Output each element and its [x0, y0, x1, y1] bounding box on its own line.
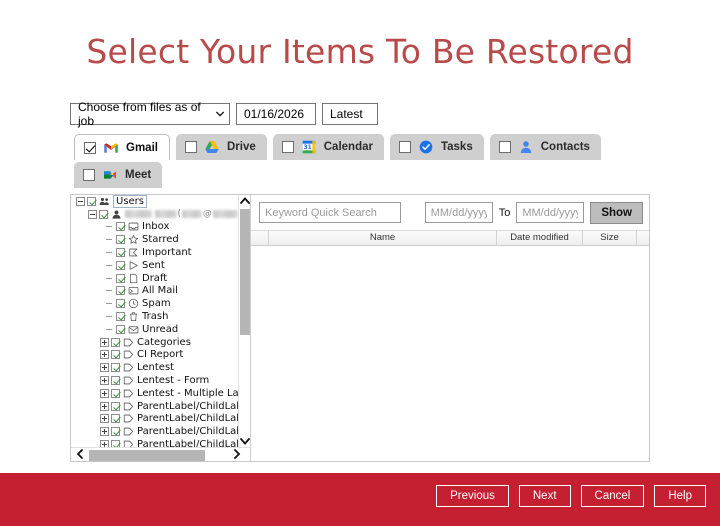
tree-checkbox[interactable] — [111, 440, 120, 447]
tasks-icon — [418, 139, 434, 155]
tree-horizontal-scrollbar[interactable] — [71, 447, 250, 461]
unread-icon — [128, 324, 139, 335]
job-date-value: 01/16/2026 — [244, 107, 304, 121]
tree-node-lentest-multiple-label[interactable]: Lentest - Multiple Label — [71, 387, 238, 400]
label-icon — [123, 337, 134, 348]
tree-node-label: All Mail — [142, 285, 178, 296]
tree-node-starred[interactable]: Starred — [71, 233, 238, 246]
job-selector-row: Choose from files as of job 01/16/2026 L… — [70, 103, 378, 125]
label-icon — [123, 439, 134, 447]
tab-tasks-checkbox[interactable] — [399, 141, 411, 153]
service-tabs-row-2: Meet — [74, 162, 652, 188]
tree-hscroll-thumb[interactable] — [89, 450, 205, 461]
tree-node-inbox[interactable]: Inbox — [71, 221, 238, 234]
expander-icon[interactable] — [100, 427, 109, 436]
file-list-header: Name Date modified Size — [251, 230, 649, 246]
footer-bar: Previous Next Cancel Help — [0, 473, 720, 526]
service-tabs-row-1: Gmail Drive 31 — [74, 134, 652, 160]
paren-open: ( — [178, 209, 182, 219]
tree-node-label: Important — [142, 247, 192, 258]
tree-node-label: Lentest — [137, 362, 174, 373]
tree-checkbox[interactable] — [111, 350, 120, 359]
tree-checkbox[interactable] — [116, 274, 125, 283]
tree-node-label: Unread — [142, 324, 178, 335]
label-icon — [123, 349, 134, 360]
tree-node-label: Inbox — [142, 221, 169, 232]
expander-icon[interactable] — [100, 402, 109, 411]
redacted-text — [155, 210, 177, 218]
redacted-email-user — [182, 210, 202, 218]
selection-panel: Users ( @ I — [70, 194, 650, 462]
mail-icon — [128, 285, 139, 296]
file-list-body[interactable] — [251, 246, 649, 461]
tree-checkbox[interactable] — [111, 389, 120, 398]
user-icon — [111, 209, 122, 220]
tree-scroll-thumb[interactable] — [240, 209, 250, 335]
column-header-size[interactable]: Size — [583, 230, 637, 246]
tab-calendar[interactable]: 31 Calendar — [273, 134, 384, 160]
tree-checkbox[interactable] — [87, 197, 96, 206]
expander-icon[interactable] — [100, 376, 109, 385]
folder-tree: Users ( @ I — [71, 195, 238, 447]
gmail-icon — [103, 140, 119, 156]
tab-contacts-label: Contacts — [541, 141, 590, 153]
job-date-dropdown[interactable]: 01/16/2026 — [236, 103, 316, 125]
footer-buttons: Previous Next Cancel Help — [436, 485, 706, 507]
tree-checkbox[interactable] — [111, 363, 120, 372]
scroll-left-arrow[interactable] — [73, 448, 87, 461]
job-source-value: Choose from files as of job — [78, 100, 206, 128]
tree-connector — [105, 235, 114, 244]
service-tabs: Gmail Drive 31 — [74, 134, 652, 188]
contacts-icon — [518, 139, 534, 155]
expander-icon[interactable] — [100, 350, 109, 359]
date-to-input[interactable] — [516, 202, 584, 223]
job-source-dropdown[interactable]: Choose from files as of job — [70, 103, 230, 125]
tree-node-parentlabel-childlabel4[interactable]: ParentLabel/ChildLabel4 — [71, 438, 238, 447]
tree-checkbox[interactable] — [111, 414, 120, 423]
tree-checkbox[interactable] — [116, 261, 125, 270]
tab-meet[interactable]: Meet — [74, 162, 162, 188]
tab-gmail[interactable]: Gmail — [74, 134, 170, 160]
tree-node-trash[interactable]: Trash — [71, 310, 238, 323]
restore-wizard-page: Select Your Items To Be Restored Choose … — [0, 0, 720, 526]
tree-node-label: ParentLabel/ChildLabel2 — [137, 413, 238, 424]
label-icon — [123, 375, 134, 386]
at-symbol: @ — [203, 209, 212, 219]
column-header-date-modified[interactable]: Date modified — [497, 230, 583, 246]
tree-connector — [105, 248, 114, 257]
expander-icon[interactable] — [100, 389, 109, 398]
tree-node-draft[interactable]: Draft — [71, 272, 238, 285]
tree-node-spam[interactable]: Spam — [71, 297, 238, 310]
tree-checkbox[interactable] — [99, 210, 108, 219]
drive-icon — [204, 139, 220, 155]
tree-node-label: ParentLabel/ChildLabel4 — [137, 439, 238, 447]
tree-checkbox[interactable] — [111, 402, 120, 411]
tree-node-label: Draft — [142, 273, 167, 284]
tree-node-lentest-form[interactable]: Lentest - Form — [71, 374, 238, 387]
tree-node-unread[interactable]: Unread — [71, 323, 238, 336]
important-icon — [128, 247, 139, 258]
tree-node-parentlabel-childlabel1[interactable]: ParentLabel/ChildLabel1 — [71, 400, 238, 413]
search-toolbar: To Show — [251, 195, 649, 230]
label-icon — [123, 413, 134, 424]
tree-checkbox[interactable] — [116, 235, 125, 244]
inbox-icon — [128, 221, 139, 232]
tab-drive-label: Drive — [227, 141, 256, 153]
cancel-button[interactable]: Cancel — [581, 485, 645, 507]
tab-gmail-checkbox[interactable] — [84, 142, 96, 154]
tree-node-all-mail[interactable]: All Mail — [71, 285, 238, 298]
page-title: Select Your Items To Be Restored — [0, 32, 720, 71]
tree-checkbox[interactable] — [116, 286, 125, 295]
tree-node-account-label — [125, 210, 152, 218]
tree-node-parentlabel-childlabel3[interactable]: ParentLabel/ChildLabel3 — [71, 425, 238, 438]
tree-node-sent[interactable]: Sent — [71, 259, 238, 272]
date-range-to-label: To — [499, 207, 511, 219]
chevron-down-icon — [216, 111, 224, 117]
scroll-down-arrow[interactable] — [239, 435, 251, 447]
tree-checkbox[interactable] — [116, 222, 125, 231]
tab-meet-checkbox[interactable] — [83, 169, 95, 181]
spam-icon — [128, 298, 139, 309]
folder-tree-pane[interactable]: Users ( @ I — [71, 195, 251, 461]
file-list-pane: To Show Name Date modified Size — [251, 195, 649, 461]
help-button[interactable]: Help — [654, 485, 706, 507]
column-header-end — [637, 230, 649, 246]
tree-node-label: ParentLabel/ChildLabel1 — [137, 401, 238, 412]
tab-contacts-checkbox[interactable] — [499, 141, 511, 153]
expander-icon[interactable] — [100, 338, 109, 347]
tree-node-label: Spam — [142, 298, 171, 309]
column-header-name[interactable]: Name — [269, 230, 497, 246]
tree-connector — [105, 312, 114, 321]
redacted-email-domain — [213, 210, 238, 218]
label-icon — [123, 362, 134, 373]
job-version-value: Latest — [330, 107, 363, 121]
scroll-right-arrow[interactable] — [230, 448, 244, 461]
sent-icon — [128, 260, 139, 271]
tab-drive[interactable]: Drive — [176, 134, 267, 160]
tree-vertical-scrollbar[interactable] — [238, 195, 250, 447]
trash-icon — [128, 311, 139, 322]
tree-connector — [105, 325, 114, 334]
calendar-icon: 31 — [301, 139, 317, 155]
tab-gmail-label: Gmail — [126, 142, 158, 154]
tree-connector — [105, 299, 114, 308]
date-from-input[interactable] — [425, 202, 493, 223]
expander-icon[interactable] — [88, 210, 97, 219]
column-header-spacer — [251, 230, 269, 246]
tree-connector — [105, 261, 114, 270]
tree-node-label: Sent — [142, 260, 165, 271]
tree-connector — [105, 274, 114, 283]
tree-node-users[interactable]: Users — [71, 195, 238, 208]
tree-node-label: Categories — [137, 337, 191, 348]
tab-contacts[interactable]: Contacts — [490, 134, 601, 160]
tree-connector — [105, 222, 114, 231]
svg-text:31: 31 — [303, 144, 311, 151]
tab-meet-label: Meet — [125, 169, 151, 181]
previous-button[interactable]: Previous — [436, 485, 509, 507]
tree-connector — [105, 286, 114, 295]
show-button[interactable]: Show — [590, 202, 643, 224]
label-icon — [123, 401, 134, 412]
expander-icon[interactable] — [100, 440, 109, 447]
expander-icon[interactable] — [100, 414, 109, 423]
tree-checkbox[interactable] — [111, 376, 120, 385]
label-icon — [123, 426, 134, 437]
tree-node-users-label: Users — [113, 195, 147, 208]
tree-node-label: Lentest - Multiple Label — [137, 388, 238, 399]
tree-checkbox[interactable] — [111, 427, 120, 436]
meet-icon — [102, 167, 118, 183]
tree-node-ci-report[interactable]: CI Report — [71, 349, 238, 362]
tree-checkbox[interactable] — [111, 338, 120, 347]
tree-node-account[interactable]: ( @ — [71, 208, 238, 221]
tree-checkbox[interactable] — [116, 325, 125, 334]
tab-calendar-checkbox[interactable] — [282, 141, 294, 153]
tree-node-parentlabel-childlabel2[interactable]: ParentLabel/ChildLabel2 — [71, 413, 238, 426]
tree-node-label: ParentLabel/ChildLabel3 — [137, 426, 238, 437]
tree-node-categories[interactable]: Categories — [71, 336, 238, 349]
draft-icon — [128, 273, 139, 284]
next-button[interactable]: Next — [519, 485, 571, 507]
tree-node-label: Starred — [142, 234, 179, 245]
tree-node-label: Lentest - Form — [137, 375, 209, 386]
tree-node-label: CI Report — [137, 349, 183, 360]
users-icon — [99, 196, 110, 207]
tab-tasks-label: Tasks — [441, 141, 473, 153]
tree-node-important[interactable]: Important — [71, 246, 238, 259]
tree-node-label: Trash — [142, 311, 168, 322]
label-icon — [123, 388, 134, 399]
scroll-up-arrow[interactable] — [239, 195, 251, 207]
tree-node-lentest[interactable]: Lentest — [71, 361, 238, 374]
tab-drive-checkbox[interactable] — [185, 141, 197, 153]
keyword-search-input[interactable] — [259, 202, 401, 223]
star-icon — [128, 234, 139, 245]
tree-checkbox[interactable] — [116, 299, 125, 308]
tree-folder-list: InboxStarredImportantSentDraftAll MailSp… — [71, 221, 238, 447]
expander-icon[interactable] — [76, 197, 85, 206]
tab-calendar-label: Calendar — [324, 141, 373, 153]
tree-checkbox[interactable] — [116, 248, 125, 257]
tree-checkbox[interactable] — [116, 312, 125, 321]
job-version-dropdown[interactable]: Latest — [322, 103, 378, 125]
tab-tasks[interactable]: Tasks — [390, 134, 484, 160]
expander-icon[interactable] — [100, 363, 109, 372]
